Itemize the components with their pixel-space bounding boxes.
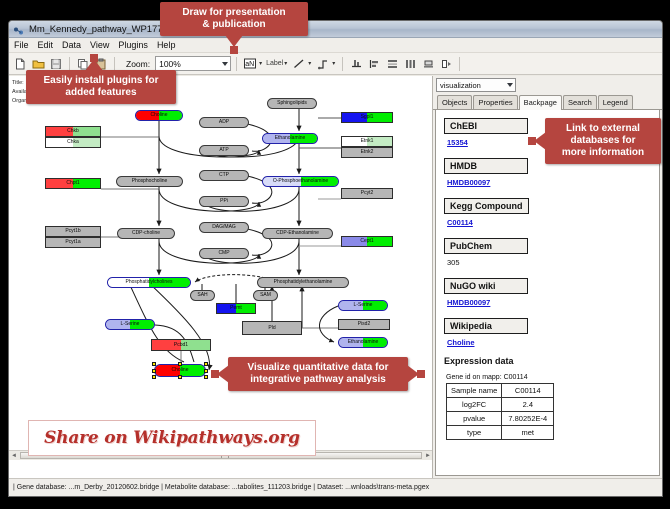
status-bar: | Gene database: ...m_Derby_20120602.bri… [9, 478, 662, 496]
db-label-nugo: NuGO wiki [444, 278, 528, 294]
db-label-chebi: ChEBI [444, 118, 528, 134]
gene-node[interactable]: Chkb [45, 126, 101, 137]
chevron-down-icon [222, 62, 228, 66]
gene-node[interactable]: Etnk2 [341, 147, 393, 158]
db-link-kegg[interactable]: C00114 [447, 218, 651, 227]
gene-node[interactable]: Pcyt1a [45, 237, 101, 248]
metabolite-node[interactable]: ADP [199, 117, 249, 128]
metabolite-node[interactable]: L-Serine [105, 319, 155, 330]
node-label: CMP [218, 251, 229, 256]
metabolite-node[interactable]: Sphingolipids [267, 98, 317, 109]
node-label: ADP [219, 120, 229, 125]
callout-link-line1: Link to external [553, 123, 653, 135]
node-label: Pisd2 [358, 322, 371, 327]
gene-node[interactable]: Cept1 [341, 236, 393, 247]
callout-draw-line2: & publication [168, 19, 300, 31]
distribute-icon[interactable] [402, 56, 418, 72]
db-link-nugo[interactable]: HMDB00097 [447, 298, 651, 307]
node-label: Phosphatidylethanolamine [274, 280, 333, 285]
metabolite-node[interactable]: DAG/MAG [199, 222, 249, 233]
label-tool[interactable]: Label [266, 60, 283, 67]
node-label: SAH [197, 293, 207, 298]
gene-id-line: Gene id on mapp: C00114 [446, 374, 651, 381]
chevron-down-icon[interactable]: ▾ [259, 60, 262, 67]
gene-node[interactable]: Pcyt2 [341, 188, 393, 199]
metabolite-node[interactable]: CDP-Ethanolamine [262, 228, 333, 239]
data-node-icon[interactable]: aN [242, 56, 258, 72]
backpage-content: ChEBI 15354 HMDB HMDB00097 Kegg Compound… [435, 110, 660, 476]
node-label: L-Serine [121, 322, 140, 327]
line-icon[interactable] [291, 56, 307, 72]
callout-pointer-down-icon [225, 35, 243, 47]
selection-handle[interactable] [204, 375, 208, 379]
db-label-pubchem: PubChem [444, 238, 528, 254]
menu-plugins[interactable]: Plugins [118, 40, 148, 50]
metabolite-node[interactable]: Ethanolamine [338, 337, 388, 348]
callout-plugins-line2: added features [34, 87, 168, 99]
metabolite-node[interactable]: PPi [199, 196, 249, 207]
metabolite-node[interactable]: Phosphocholine [116, 176, 183, 187]
metabolite-node[interactable]: ATP [199, 145, 249, 156]
expression-table: Sample name C00114 log2FC 2.4 pvalue 7.8… [446, 383, 554, 440]
expr-key-0: Sample name [447, 384, 502, 398]
share-banner: Share on Wikipathways.org [28, 420, 316, 456]
expr-key-1: log2FC [447, 398, 502, 412]
node-label: Phosphocholine [132, 179, 168, 184]
callout-plugins-line1: Easily install plugins for [34, 75, 168, 87]
db-link-wikipedia[interactable]: Choline [447, 338, 651, 347]
node-label: Chpt1 [66, 181, 79, 186]
pathway-canvas[interactable]: Title: Availa Organ [9, 76, 433, 478]
callout-pointer-up-icon [85, 59, 103, 71]
zoom-value: 100% [159, 59, 181, 69]
expr-key-3: type [447, 426, 502, 440]
node-label: L-Serine [354, 303, 373, 308]
node-label: PPi [220, 199, 228, 204]
align-top-icon[interactable] [348, 56, 364, 72]
table-row: type met [447, 426, 554, 440]
side-panel-tabs: Objects Properties Backpage Search Legen… [433, 94, 662, 110]
selection-handle[interactable] [178, 362, 182, 366]
db-link-hmdb[interactable]: HMDB00097 [447, 178, 651, 187]
gene-node[interactable]: Sgpl1 [341, 112, 393, 123]
chevron-down-icon [507, 83, 513, 87]
db-label-wikipedia: Wikipedia [444, 318, 528, 334]
status-text: | Gene database: ...m_Derby_20120602.bri… [13, 484, 429, 491]
expr-value-2: 7.80252E-4 [502, 412, 554, 426]
node-label: SAM [260, 293, 271, 298]
metabolite-node[interactable]: SAM [253, 290, 278, 301]
application-icon [13, 24, 24, 35]
gene-node[interactable]: Chka [45, 137, 101, 148]
node-label: Pcbd1 [174, 343, 188, 348]
db-label-hmdb: HMDB [444, 158, 528, 174]
window-titlebar: Mm_Kennedy_pathway_WP1771_45176.gpml [9, 21, 662, 38]
table-row: pvalue 7.80252E-4 [447, 412, 554, 426]
node-label: Phosphatidylcholines [126, 280, 173, 285]
visualization-combo[interactable]: visualization [436, 78, 516, 92]
tab-backpage[interactable]: Backpage [519, 95, 562, 110]
gene-node[interactable]: Chpt1 [45, 178, 101, 189]
gene-node[interactable]: Etnk1 [341, 136, 393, 147]
toolbar-separator [114, 57, 115, 71]
callout-link-line2: databases for [553, 135, 653, 147]
callout-pointer-left-icon [534, 132, 546, 150]
node-label: Choline [151, 113, 168, 118]
node-label: Sgpl1 [361, 115, 374, 120]
svg-text:aN: aN [245, 61, 254, 68]
gene-node[interactable]: Pld [242, 321, 302, 335]
metabolite-node[interactable]: Ethanolamine [262, 133, 318, 144]
node-label: Ethanolamine [275, 136, 306, 141]
node-label: Choline [172, 368, 189, 373]
menu-file[interactable]: File [14, 40, 29, 50]
toolbar-separator [236, 57, 237, 71]
tab-search[interactable]: Search [563, 95, 597, 109]
tab-properties[interactable]: Properties [473, 95, 517, 109]
node-label: Ethanolamine [348, 340, 379, 345]
selection-handle[interactable] [152, 369, 156, 373]
menu-help[interactable]: Help [157, 40, 176, 50]
node-label: Chka [67, 140, 79, 145]
zoom-combo[interactable]: 100% [155, 56, 231, 71]
selection-handle[interactable] [204, 369, 208, 373]
metabolite-node[interactable]: CTP [199, 170, 249, 181]
node-label: Pcyt1b [65, 229, 80, 234]
new-file-icon[interactable] [12, 56, 28, 72]
screenshot-root: Mm_Kennedy_pathway_WP1771_45176.gpml Fil… [0, 0, 670, 509]
node-label: Etnk1 [361, 139, 374, 144]
interaction-icon[interactable] [315, 56, 331, 72]
table-row: log2FC 2.4 [447, 398, 554, 412]
gene-node[interactable]: Pcyt1b [45, 226, 101, 237]
metabolite-node[interactable]: SAH [190, 290, 215, 301]
scroll-left-icon[interactable]: ◄ [9, 453, 19, 459]
scroll-right-icon[interactable]: ► [423, 453, 433, 459]
selection-handle[interactable] [204, 362, 208, 366]
node-label: Pld [268, 326, 275, 331]
tab-legend[interactable]: Legend [598, 95, 633, 109]
toolbar-separator [342, 57, 343, 71]
bring-to-front-icon[interactable] [438, 56, 454, 72]
table-row: Sample name C00114 [447, 384, 554, 398]
stack-vertical-icon[interactable] [384, 56, 400, 72]
selection-handle[interactable] [178, 375, 182, 379]
node-label: Etnk2 [361, 150, 374, 155]
align-left-icon[interactable] [366, 56, 382, 72]
gene-node[interactable]: Pemt [216, 303, 256, 314]
db-label-kegg: Kegg Compound [444, 198, 529, 214]
metabolite-node[interactable]: O-Phosphoethanolamine [262, 176, 339, 187]
callout-draw: Draw for presentation & publication [160, 2, 308, 36]
node-label: O-Phosphoethanolamine [273, 179, 328, 184]
node-label: Sphingolipids [277, 101, 307, 106]
node-label: Pemt [230, 306, 242, 311]
metabolite-node[interactable]: CMP [199, 248, 249, 259]
menu-bar: File Edit Data View Plugins Help [9, 38, 662, 53]
node-label: Chkb [67, 129, 79, 134]
zoom-label: Zoom: [126, 59, 150, 69]
metabolite-node[interactable]: Choline [135, 110, 183, 121]
tab-objects[interactable]: Objects [437, 95, 472, 109]
node-label: CDP-choline [132, 231, 160, 236]
expr-value-1: 2.4 [502, 398, 554, 412]
selection-handle[interactable] [152, 375, 156, 379]
chevron-down-icon[interactable]: ▾ [332, 60, 335, 67]
callout-link: Link to external databases for more info… [545, 118, 661, 164]
callout-pointer-left-icon [217, 365, 229, 383]
db-value-pubchem: 305 [447, 258, 651, 267]
toolbar-separator [459, 57, 460, 71]
visualization-combo-row: visualization [433, 76, 662, 94]
node-label: Cept1 [360, 239, 373, 244]
metabolite-node[interactable]: Phosphatidylethanolamine [257, 277, 349, 288]
expr-value-3: met [502, 426, 554, 440]
expression-data-heading: Expression data [444, 356, 651, 366]
callout-stem [230, 46, 238, 54]
visualization-value: visualization [440, 81, 481, 90]
node-label: Pcyt1a [65, 240, 80, 245]
node-label: CTP [219, 173, 229, 178]
node-label: CDP-Ethanolamine [276, 231, 319, 236]
metabolite-node[interactable]: CDP-choline [117, 228, 175, 239]
metabolite-node[interactable]: Phosphatidylcholines [107, 277, 191, 288]
callout-link-line3: more information [553, 147, 653, 159]
gene-node[interactable]: Pcbd1 [151, 339, 211, 351]
chevron-down-icon[interactable]: ▾ [308, 60, 311, 67]
callout-visualize-line1: Visualize quantitative data for [236, 362, 400, 374]
node-label: ATP [219, 148, 228, 153]
gene-node[interactable]: Pisd2 [338, 319, 390, 330]
expr-key-2: pvalue [447, 412, 502, 426]
metabolite-node[interactable]: L-Serine [338, 300, 388, 311]
menu-edit[interactable]: Edit [38, 40, 54, 50]
callout-visualize: Visualize quantitative data for integrat… [228, 357, 408, 391]
common-size-icon[interactable] [420, 56, 436, 72]
node-label: Pcyt2 [361, 191, 374, 196]
node-label: DAG/MAG [212, 225, 236, 230]
toolbar-separator [69, 57, 70, 71]
callout-draw-line1: Draw for presentation [168, 7, 300, 19]
selection-handle[interactable] [152, 362, 156, 366]
menu-view[interactable]: View [90, 40, 109, 50]
callout-visualize-line2: integrative pathway analysis [236, 374, 400, 386]
chevron-down-icon[interactable]: ▾ [284, 60, 287, 67]
menu-data[interactable]: Data [62, 40, 81, 50]
callout-pointer-right-icon [407, 365, 419, 383]
callout-plugins: Easily install plugins for added feature… [26, 70, 176, 104]
share-banner-text: Share on Wikipathways.org [44, 428, 300, 448]
expr-value-0: C00114 [502, 384, 554, 398]
